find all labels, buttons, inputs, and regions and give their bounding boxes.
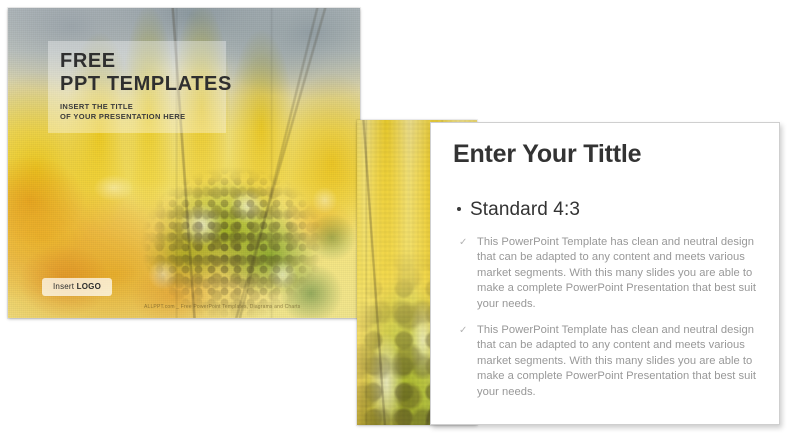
standard-ratio-label: Standard 4:3 — [470, 199, 580, 221]
allppt-watermark: ALLPPT.com _ Free PowerPoint Templates, … — [144, 304, 300, 310]
check-icon: ✓ — [459, 235, 469, 312]
description-text: This PowerPoint Template has clean and n… — [477, 235, 759, 312]
cover-slide-thumbnail[interactable]: FREE PPT TEMPLATES INSERT THE TITLE OF Y… — [8, 8, 360, 318]
cover-title-block: FREE PPT TEMPLATES INSERT THE TITLE OF Y… — [48, 41, 226, 133]
insert-logo-strong: LOGO — [77, 282, 101, 291]
bullet-dot-icon — [457, 207, 461, 211]
panel-title: Enter Your Tittle — [453, 140, 641, 169]
check-icon: ✓ — [459, 323, 469, 400]
description-paragraph: ✓ This PowerPoint Template has clean and… — [459, 323, 759, 400]
cover-heading-line-1: FREE — [60, 50, 216, 73]
cover-heading-line-2: PPT TEMPLATES — [60, 73, 216, 96]
insert-logo-placeholder[interactable]: Insert LOGO — [42, 278, 112, 296]
description-paragraph: ✓ This PowerPoint Template has clean and… — [459, 235, 759, 312]
cover-subtitle-line-2: OF YOUR PRESENTATION HERE — [60, 112, 216, 123]
insert-logo-prefix: Insert — [53, 282, 77, 291]
description-text: This PowerPoint Template has clean and n… — [477, 323, 759, 400]
screenshot-stage: FREE PPT TEMPLATES INSERT THE TITLE OF Y… — [0, 0, 788, 443]
standard-ratio-bullet: Standard 4:3 — [457, 199, 580, 221]
content-slide-panel[interactable]: Enter Your Tittle Standard 4:3 ✓ This Po… — [430, 122, 780, 425]
cover-subtitle-line-1: INSERT THE TITLE — [60, 102, 216, 113]
